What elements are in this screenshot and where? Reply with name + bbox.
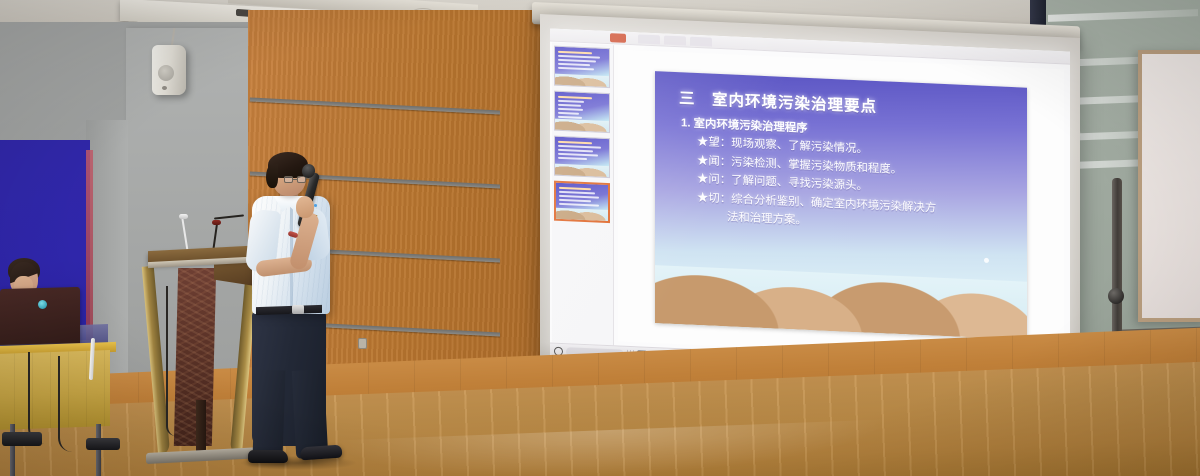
speaker-cone-icon (158, 65, 174, 81)
whiteboard-height-knob[interactable] (1108, 288, 1124, 304)
ribbon-tab[interactable] (638, 34, 660, 44)
ribbon-tab[interactable] (664, 36, 686, 46)
thumb-dune-graphic (556, 208, 608, 221)
thumb-text (559, 187, 605, 209)
slide-thumb-3[interactable] (554, 136, 610, 178)
whiteboard (1138, 50, 1200, 322)
presenter-leg-left (252, 370, 285, 461)
thumb-dune-graphic (555, 164, 609, 177)
desk-cable (58, 356, 72, 452)
ribbon-tab[interactable] (690, 37, 712, 47)
thumb-dune-graphic (555, 119, 609, 132)
lectern-center-post (196, 400, 206, 454)
lectern-mic-capsule-left[interactable] (179, 214, 188, 219)
lectern-mic-capsule-right[interactable] (212, 220, 221, 225)
wall-speaker (152, 45, 186, 95)
lectern-cable (166, 286, 176, 436)
red-wall-strip (86, 150, 93, 340)
laptop-logo-icon (38, 300, 47, 309)
presenter-shoe-left (248, 450, 288, 463)
floor-equipment (2, 432, 42, 446)
desk-leg (96, 424, 101, 476)
lecture-hall-photo: 三 室内环境污染治理要点 1. 室内环境污染治理程序 ★望：现场观察、了解污染情… (0, 0, 1200, 476)
slide-thumb-1[interactable] (554, 46, 610, 88)
current-slide[interactable]: 三 室内环境污染治理要点 1. 室内环境污染治理程序 ★望：现场观察、了解污染情… (655, 71, 1027, 340)
lectern-front-panel (174, 268, 216, 446)
slide-sun-dot (984, 258, 989, 263)
laptop[interactable] (0, 287, 80, 345)
slide-editing-stage: 三 室内环境污染治理要点 1. 室内环境污染治理程序 ★望：现场观察、了解污染情… (618, 49, 1064, 361)
thumb-text (558, 141, 606, 163)
speaker-port (162, 86, 167, 90)
presenter-hand-right (296, 196, 314, 218)
slide-thumb-2[interactable] (554, 91, 610, 133)
wall-outlet (358, 338, 367, 349)
presenter-hair-side (266, 164, 278, 188)
slide-body: 1. 室内环境污染治理程序 ★望：现场观察、了解污染情况。 ★闻：污染检测、掌握… (677, 114, 1015, 240)
presenter-belt-buckle (292, 305, 304, 314)
thumb-text (558, 51, 606, 73)
microphone-led-icon (314, 204, 317, 207)
thumb-text (558, 96, 606, 122)
slide-dune-graphic (655, 265, 1027, 340)
slide-thumb-4[interactable] (554, 181, 610, 223)
ribbon-accent-tab[interactable] (610, 33, 626, 43)
floor-equipment (86, 438, 120, 450)
projected-image: 三 室内环境污染治理要点 1. 室内环境污染治理程序 ★望：现场观察、了解污染情… (550, 28, 1070, 381)
powerpoint-window: 三 室内环境污染治理要点 1. 室内环境污染治理程序 ★望：现场观察、了解污染情… (550, 28, 1070, 381)
thumb-dune-graphic (555, 74, 609, 87)
slide-thumbnail-rail[interactable] (552, 43, 614, 346)
desk-cable (28, 352, 44, 444)
